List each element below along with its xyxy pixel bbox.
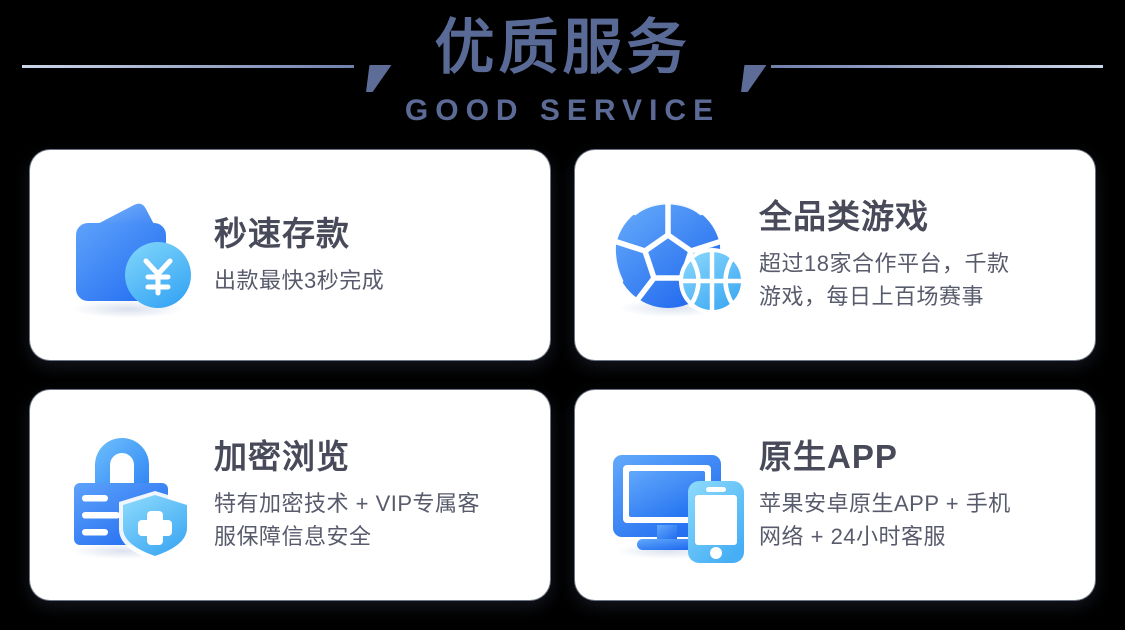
service-card-grid: 秒速存款 出款最快3秒完成	[30, 150, 1095, 600]
service-card-deposit[interactable]: 秒速存款 出款最快3秒完成	[30, 150, 550, 360]
service-card-text: 原生APP 苹果安卓原生APP + 手机网络 + 24小时客服	[755, 437, 1095, 553]
soccer-basketball-icon	[605, 185, 755, 325]
service-card-subtitle: 特有加密技术 + VIP专属客服保障信息安全	[214, 487, 532, 553]
promo-page: 优质服务 GOOD SERVICE	[0, 0, 1125, 630]
service-card-text: 加密浏览 特有加密技术 + VIP专属客服保障信息安全	[210, 437, 550, 553]
service-card-subtitle: 苹果安卓原生APP + 手机网络 + 24小时客服	[759, 487, 1077, 553]
service-card-text: 秒速存款 出款最快3秒完成	[210, 214, 550, 297]
monitor-phone-icon	[605, 425, 755, 565]
service-card-title: 原生APP	[759, 437, 1077, 477]
service-card-title: 全品类游戏	[759, 197, 1077, 237]
page-header: 优质服务 GOOD SERVICE	[0, 0, 1125, 140]
service-card-title: 加密浏览	[214, 437, 532, 477]
service-card-encryption[interactable]: 加密浏览 特有加密技术 + VIP专属客服保障信息安全	[30, 390, 550, 600]
service-card-text: 全品类游戏 超过18家合作平台，千款游戏，每日上百场赛事	[755, 197, 1095, 313]
wallet-coin-icon	[60, 185, 210, 325]
lock-shield-icon	[60, 425, 210, 565]
page-title: 优质服务	[0, 8, 1125, 88]
service-card-title: 秒速存款	[214, 214, 532, 254]
service-card-subtitle: 出款最快3秒完成	[214, 264, 532, 297]
service-card-games[interactable]: 全品类游戏 超过18家合作平台，千款游戏，每日上百场赛事	[575, 150, 1095, 360]
service-card-subtitle: 超过18家合作平台，千款游戏，每日上百场赛事	[759, 247, 1077, 313]
service-card-native-app[interactable]: 原生APP 苹果安卓原生APP + 手机网络 + 24小时客服	[575, 390, 1095, 600]
page-subtitle: GOOD SERVICE	[0, 93, 1125, 129]
